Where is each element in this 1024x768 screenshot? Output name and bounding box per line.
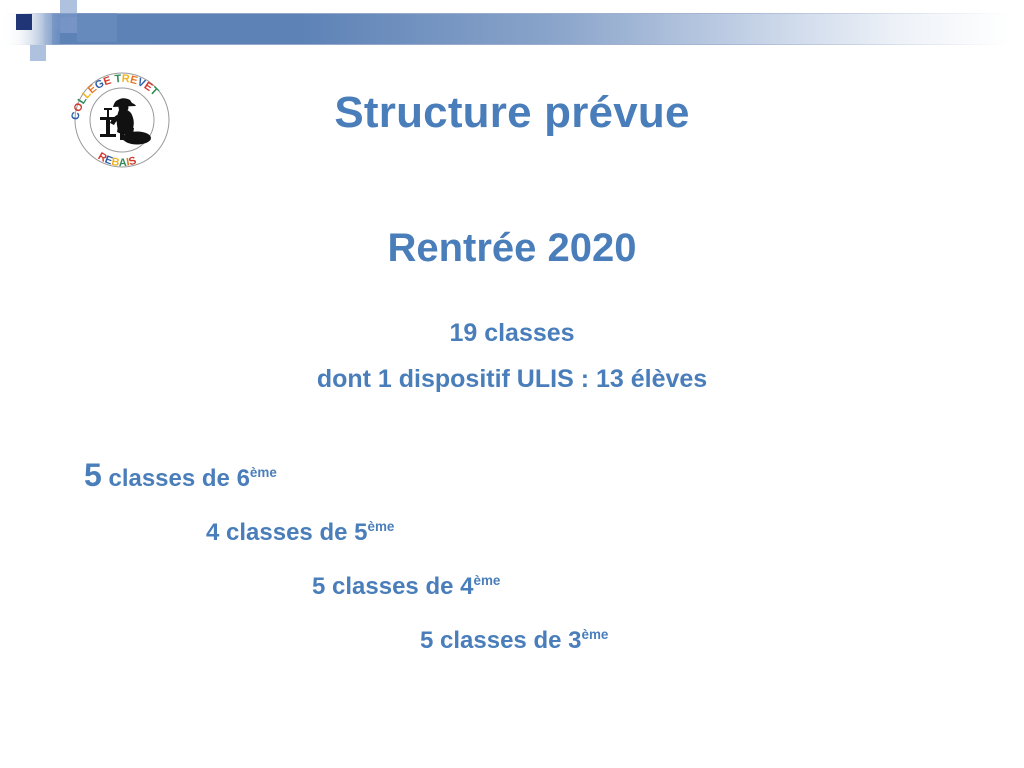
header-accent-square-icon [16, 14, 32, 30]
list-item: 5 classes de 6ème [0, 448, 1024, 506]
logo-bottom-text: REBAIS [96, 150, 138, 169]
total-classes-text: 19 classes [0, 310, 1024, 356]
level-ordinal: ème [581, 627, 608, 642]
levels-list: 5 classes de 6ème 4 classes de 5ème 5 cl… [0, 448, 1024, 668]
level-ordinal: ème [250, 465, 277, 480]
header-bar-hairline-bottom [0, 44, 1024, 45]
level-count: 5 [420, 627, 433, 654]
summary-block: 19 classes dont 1 dispositif ULIS : 13 é… [0, 310, 1024, 402]
header-decoration-band [0, 13, 1024, 45]
level-count: 5 [312, 573, 325, 600]
header-bar-hairline-top [0, 13, 1024, 14]
ulis-text: dont 1 dispositif ULIS : 13 élèves [0, 356, 1024, 402]
header-gradient-bar [0, 13, 1024, 45]
header-tile-bottom [30, 45, 46, 61]
list-item: 4 classes de 5ème [0, 506, 1024, 560]
header-tile-block [77, 13, 117, 42]
level-label: classes de 3 [433, 627, 581, 654]
level-label: classes de 5 [219, 519, 367, 546]
level-label: classes de 6 [102, 465, 250, 492]
level-ordinal: ème [473, 573, 500, 588]
level-ordinal: ème [367, 519, 394, 534]
level-label: classes de 4 [325, 573, 473, 600]
header-tile-top [60, 0, 77, 17]
slide-subtitle: Rentrée 2020 [0, 226, 1024, 271]
level-count: 4 [206, 519, 219, 546]
list-item: 5 classes de 3ème [0, 614, 1024, 668]
level-count: 5 [84, 457, 102, 493]
presentation-slide: COLLEGE TREVET REBAIS Structure prévue R… [0, 0, 1024, 768]
header-tile-mid [60, 17, 77, 33]
list-item: 5 classes de 4ème [0, 560, 1024, 614]
page-title: Structure prévue [0, 88, 1024, 138]
